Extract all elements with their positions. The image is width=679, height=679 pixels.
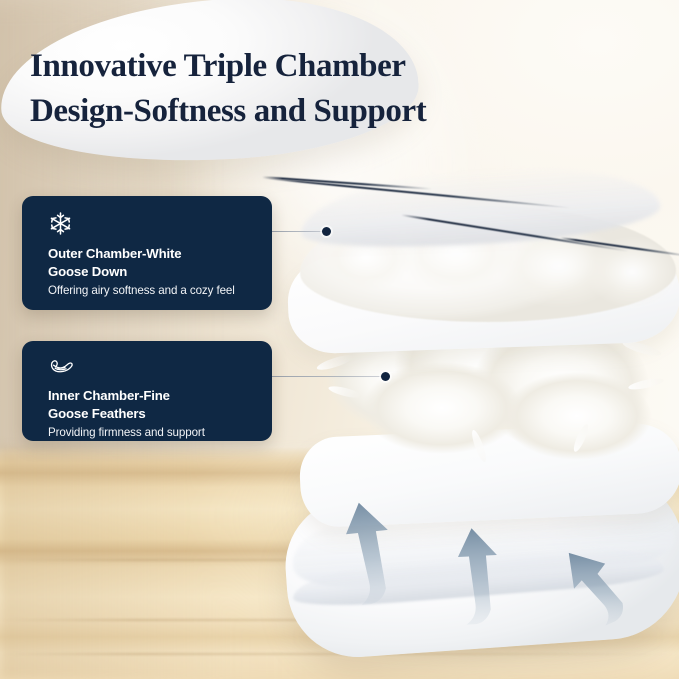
snowflake-icon	[48, 211, 254, 236]
card-description: Providing firmness and support	[48, 425, 254, 440]
info-card-outer-chamber[interactable]: Outer Chamber-White Goose Down Offering …	[22, 196, 272, 310]
page-title: Innovative Triple Chamber Design-Softnes…	[30, 44, 590, 134]
product-infographic: Outer Chamber-White Goose Down Offering …	[0, 0, 679, 679]
connector-line-inner-chamber	[272, 376, 388, 377]
info-card-inner-chamber[interactable]: Inner Chamber-Fine Goose Feathers Provid…	[22, 341, 272, 441]
connector-dot-inner-chamber	[381, 372, 390, 381]
connector-dot-outer-chamber	[322, 227, 331, 236]
feather-icon	[48, 356, 254, 378]
card-title: Inner Chamber-Fine Goose Feathers	[48, 387, 254, 422]
card-title-line-1: Inner Chamber-Fine	[48, 388, 170, 403]
card-title-line-2: Goose Down	[48, 264, 127, 279]
card-title-line-1: Outer Chamber-White	[48, 246, 181, 261]
page-title-line-2: Design-Softness and Support	[30, 89, 590, 134]
page-title-line-1: Innovative Triple Chamber	[30, 44, 590, 89]
card-description: Offering airy softness and a cozy feel	[48, 283, 254, 298]
card-title-line-2: Goose Feathers	[48, 406, 146, 421]
card-title: Outer Chamber-White Goose Down	[48, 245, 254, 280]
connector-line-outer-chamber	[272, 231, 328, 232]
